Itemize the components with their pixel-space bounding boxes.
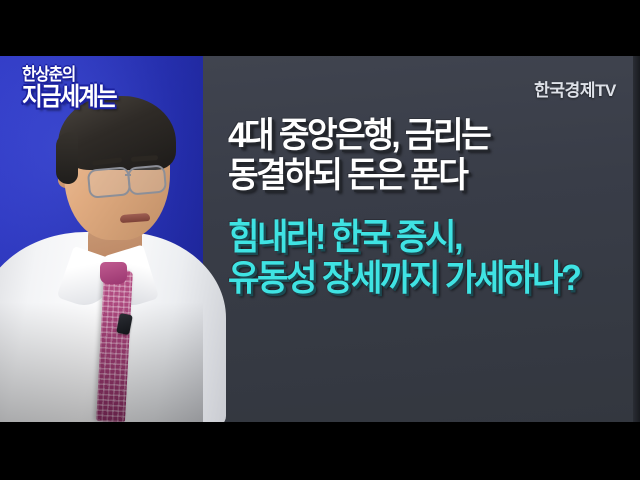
program-logo-line1: 한상춘의 — [22, 66, 138, 83]
broadcaster-watermark: 한국경제TV — [534, 76, 616, 101]
headline-block: 4대 중앙은행, 금리는 동결하되 돈은 푼다 힘내라! 한국 증시, 유동성 … — [228, 118, 628, 300]
broadcast-content-area: 한상춘의 지금세계는 한국경제TV 4대 중앙은행, 금리는 동결하되 돈은 푼… — [0, 56, 640, 422]
program-logo: 한상춘의 지금세계는 — [0, 56, 148, 120]
headline-line-2: 동결하되 돈은 푼다 — [228, 158, 608, 194]
glasses-lens-left — [87, 166, 131, 199]
program-logo-line2: 지금세계는 — [22, 85, 135, 111]
glasses-bridge — [125, 174, 131, 176]
video-frame-screenshot: 한상춘의 지금세계는 한국경제TV 4대 중앙은행, 금리는 동결하되 돈은 푼… — [0, 0, 640, 480]
headline-line-4: 유동성 장세까지 가세하나? — [228, 259, 608, 296]
headline-line-1: 4대 중앙은행, 금리는 — [228, 118, 608, 154]
letterbox-bottom — [0, 422, 640, 480]
headline-line-3: 힘내라! 한국 증시, — [228, 218, 608, 255]
headline-spacer — [228, 198, 628, 218]
guest-hair-side — [56, 132, 78, 184]
panel-right-edge — [633, 56, 640, 422]
necktie-knot — [100, 262, 127, 284]
glasses-lens-right — [127, 164, 167, 195]
letterbox-top — [0, 0, 640, 56]
